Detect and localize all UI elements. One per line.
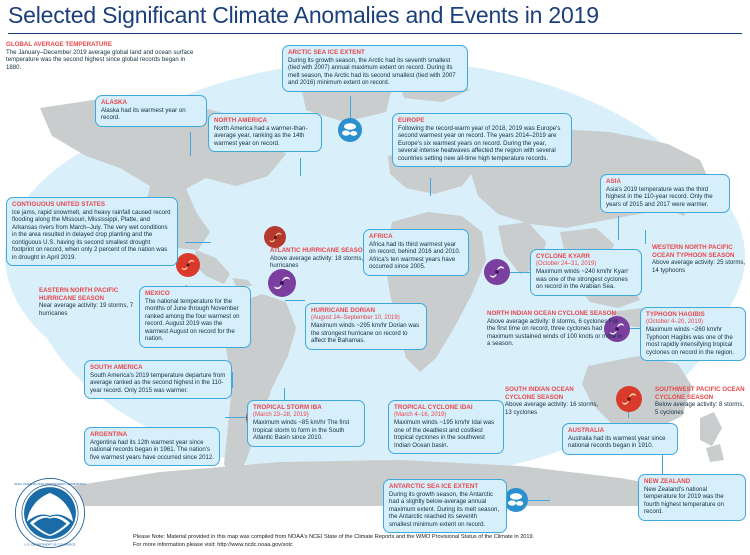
sea-ice-icon <box>507 491 525 509</box>
callout-subheading: (October 4–20, 2019) <box>646 319 740 326</box>
callout-heading: ARCTIC SEA ICE EXTENT <box>288 49 462 57</box>
leader-iba-v <box>284 388 285 400</box>
callout-heading: TROPICAL STORM IBA <box>253 404 359 412</box>
callout-tropical-cyclone-idai[interactable]: TROPICAL CYCLONE IDAI (March 4–16, 2019)… <box>388 400 504 454</box>
callout-north-indian-ocean-cyclone-season[interactable]: NORTH INDIAN OCEAN CYCLONE SEASON Above … <box>487 310 627 348</box>
callout-eastern-north-pacific-hurricane-season[interactable]: EASTERN NORTH PACIFIC HURRICANE SEASON N… <box>39 287 143 317</box>
leader-hurricane-dorian <box>285 300 305 301</box>
callout-heading: GLOBAL AVERAGE TEMPERATURE <box>6 41 196 49</box>
callout-body: During its growth season, the Arctic had… <box>288 57 462 87</box>
callout-subheading: (October 24–31, 2019) <box>536 261 636 268</box>
footnote-line-2: For more information please visit: http:… <box>133 541 733 549</box>
callout-body: Maximum winds ~195 km/hr Idai was one of… <box>394 419 498 449</box>
callout-body: Above average activity: 18 storms, 6 hur… <box>270 255 374 270</box>
callout-body: South America's 2019 temperature departu… <box>90 372 226 395</box>
cyclone-icon <box>619 389 639 409</box>
callout-western-north-pacific-ocean-typhoon-season[interactable]: WESTERN NORTH PACIFIC OCEAN TYPHOON SEAS… <box>652 244 746 274</box>
marker-mexico-heat <box>176 253 200 277</box>
callout-typhoon-hagibis[interactable]: TYPHOON HAGIBIS (October 4–20, 2019) Max… <box>640 307 746 361</box>
callout-body: Above average activity: 16 storms, 13 cy… <box>505 401 599 416</box>
title-divider <box>8 33 742 34</box>
noaa-seal-icon: NOAA NATIONAL OCEANIC AND ATMOSPHERIC AD… <box>14 477 86 549</box>
callout-antarctic-sea-ice-extent[interactable]: ANTARCTIC SEA ICE EXTENT During its grow… <box>383 479 507 533</box>
marker-cyclone-kyarr <box>484 259 510 285</box>
footnote: Please Note: Material provided in this m… <box>133 533 733 549</box>
callout-heading: ATLANTIC HURRICANE SEASON <box>270 247 374 255</box>
cyclone-icon <box>487 262 507 282</box>
cyclone-icon <box>271 272 293 294</box>
footnote-line-1: Please Note: Material provided in this m… <box>133 533 733 541</box>
callout-north-america[interactable]: NORTH AMERICA North America had a warmer… <box>208 113 322 152</box>
leader-iba <box>225 417 247 418</box>
callout-body: Following the record-warm year of 2018, … <box>398 125 566 163</box>
cyclone-icon <box>179 256 197 274</box>
callout-body: Ice jams, rapid snowmelt, and heavy rain… <box>12 209 172 262</box>
callout-southwest-pacific-ocean-cyclone-season[interactable]: SOUTHWEST PACIFIC OCEAN CYCLONE SEASON B… <box>655 386 745 416</box>
callout-global-average-temperature[interactable]: GLOBAL AVERAGE TEMPERATURE The January–D… <box>6 41 196 71</box>
callout-australia[interactable]: AUSTRALIA Australia had its warmest year… <box>562 423 678 455</box>
callout-heading: WESTERN NORTH PACIFIC OCEAN TYPHOON SEAS… <box>652 244 746 259</box>
leader-antarctic <box>528 500 550 501</box>
callout-heading: AFRICA <box>369 233 463 241</box>
callout-body: Asia's 2019 temperature was the third hi… <box>606 186 724 209</box>
callout-heading: NEW ZEALAND <box>644 478 740 486</box>
callout-alaska[interactable]: ALASKA Alaska had its warmest year on re… <box>95 95 207 127</box>
callout-heading: CYCLONE KYARR <box>536 253 636 261</box>
callout-heading: SOUTH INDIAN OCEAN CYCLONE SEASON <box>505 386 599 401</box>
callout-body: New Zealand's national temperature for 2… <box>644 486 740 516</box>
callout-body: Maximum winds ~295 km/hr Dorian was the … <box>311 322 421 345</box>
callout-heading: EUROPE <box>398 117 566 125</box>
callout-body: Near average activity: 19 storms, 7 hurr… <box>39 302 143 317</box>
callout-cyclone-kyarr[interactable]: CYCLONE KYARR (October 24–31, 2019) Maxi… <box>530 249 642 296</box>
callout-body: Argentina had its 12th warmest year sinc… <box>90 439 214 462</box>
leader-south-america <box>232 372 233 388</box>
callout-body: Alaska had its warmest year on record. <box>101 107 201 122</box>
callout-africa[interactable]: AFRICA Africa had its third warmest year… <box>363 229 469 276</box>
callout-body: Maximum winds ~260 km/hr Typhoon Hagibis… <box>646 326 740 356</box>
callout-new-zealand[interactable]: NEW ZEALAND New Zealand's national tempe… <box>638 474 746 521</box>
callout-body: During its growth season, the Antarctic … <box>389 491 501 529</box>
callout-arctic-sea-ice-extent[interactable]: ARCTIC SEA ICE EXTENT During its growth … <box>282 45 468 92</box>
callout-body: Australia had its warmest year since nat… <box>568 435 672 450</box>
callout-heading: TROPICAL CYCLONE IDAI <box>394 404 498 412</box>
callout-mexico[interactable]: MEXICO The national temperature for the … <box>139 286 251 348</box>
callout-europe[interactable]: EUROPE Following the record-warm year of… <box>392 113 572 167</box>
callout-tropical-storm-iba[interactable]: TROPICAL STORM IBA (March 23–28, 2019) M… <box>247 400 365 447</box>
callout-heading: CONTIGUOUS UNITED STATES <box>12 201 172 209</box>
svg-text:NOAA: NOAA <box>33 504 68 516</box>
callout-body: Below average activity: 8 storms, 5 cycl… <box>655 401 745 416</box>
page-title: Selected Significant Climate Anomalies a… <box>8 2 599 29</box>
callout-subheading: (March 23–28, 2019) <box>253 412 359 419</box>
leader-north-america <box>300 158 301 176</box>
callout-argentina[interactable]: ARGENTINA Argentina had its 12th warmest… <box>84 427 220 466</box>
callout-body: The national temperature for the months … <box>145 298 245 343</box>
infographic-root: Selected Significant Climate Anomalies a… <box>0 0 750 555</box>
cyclone-icon <box>267 229 284 246</box>
callout-south-america[interactable]: SOUTH AMERICA South America's 2019 tempe… <box>84 360 232 399</box>
callout-heading: SOUTH AMERICA <box>90 364 226 372</box>
callout-body: Africa had its third warmest year on rec… <box>369 241 463 271</box>
callout-heading: ARGENTINA <box>90 431 214 439</box>
callout-body: Above average activity: 8 storms, 6 cycl… <box>487 318 627 348</box>
callout-heading: MEXICO <box>145 290 245 298</box>
marker-hurricane-dorian <box>264 226 286 248</box>
callout-heading: NORTH INDIAN OCEAN CYCLONE SEASON <box>487 310 627 318</box>
sea-ice-icon <box>341 121 359 139</box>
callout-subheading: (March 4–16, 2019) <box>394 412 498 419</box>
callout-asia[interactable]: ASIA Asia's 2019 temperature was the thi… <box>600 174 730 213</box>
callout-heading: NORTH AMERICA <box>214 117 316 125</box>
callout-atlantic-hurricane-season[interactable]: ATLANTIC HURRICANE SEASON Above average … <box>270 247 374 270</box>
callout-body: Maximum winds ~85 km/hr The first tropic… <box>253 419 359 442</box>
callout-heading: TYPHOON HAGIBIS <box>646 311 740 319</box>
callout-contiguous-united-states[interactable]: CONTIGUOUS UNITED STATES Ice jams, rapid… <box>6 197 178 266</box>
callout-body: Maximum winds ~240 km/hr Kyarr was one o… <box>536 268 636 291</box>
leader-alaska <box>190 132 191 156</box>
callout-heading: SOUTHWEST PACIFIC OCEAN CYCLONE SEASON <box>655 386 745 401</box>
callout-heading: EASTERN NORTH PACIFIC HURRICANE SEASON <box>39 287 143 302</box>
marker-southwest-pacific <box>616 386 642 412</box>
noaa-ring-bottom: U.S. DEPARTMENT OF COMMERCE <box>25 542 76 546</box>
marker-antarctic-sea-ice <box>504 488 528 512</box>
marker-arctic-sea-ice <box>338 118 362 142</box>
callout-hurricane-dorian[interactable]: HURRICANE DORIAN (August 24–September 10… <box>305 303 427 350</box>
noaa-logo: NOAA NATIONAL OCEANIC AND ATMOSPHERIC AD… <box>14 477 86 549</box>
callout-heading: ANTARCTIC SEA ICE EXTENT <box>389 483 501 491</box>
callout-body: North America had a warmer-than-average … <box>214 125 316 148</box>
leader-wnp-typhoon <box>645 230 646 244</box>
callout-body: The January–December 2019 average global… <box>6 49 196 72</box>
callout-body: Above average activity: 25 storms, 14 ty… <box>652 259 746 274</box>
noaa-ring-top: NATIONAL OCEANIC AND ATMOSPHERIC ADMINIS… <box>14 482 86 486</box>
callout-subheading: (August 24–September 10, 2019) <box>311 315 421 322</box>
leader-europe <box>430 178 431 196</box>
marker-atlantic-hurricane <box>268 269 296 297</box>
callout-south-indian-ocean-cyclone-season[interactable]: SOUTH INDIAN OCEAN CYCLONE SEASON Above … <box>505 386 599 416</box>
leader-asia <box>618 216 619 240</box>
leader-contiguous-us <box>185 242 211 243</box>
callout-heading: ALASKA <box>101 99 201 107</box>
callout-heading: ASIA <box>606 178 724 186</box>
callout-heading: AUSTRALIA <box>568 427 672 435</box>
callout-heading: HURRICANE DORIAN <box>311 307 421 315</box>
